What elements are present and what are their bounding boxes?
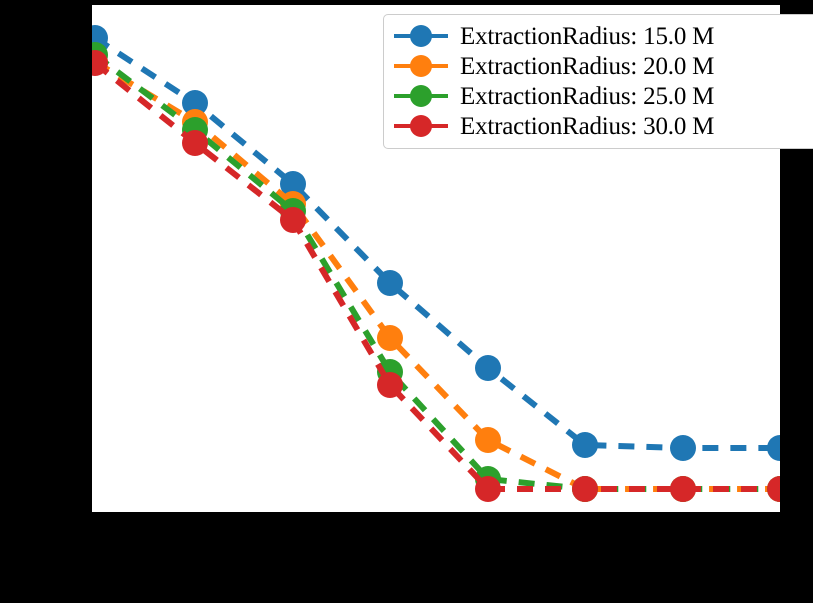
data-point-marker <box>475 427 501 453</box>
y-tick-minor <box>85 248 91 250</box>
y-tick-minor <box>85 467 91 469</box>
y-tick-minor <box>85 363 91 365</box>
y-tick-minor <box>85 4 91 6</box>
y-tick-minor <box>85 20 91 22</box>
y-tick-minor <box>85 52 91 54</box>
y-tick-minor <box>85 261 91 263</box>
data-point-marker <box>767 435 780 461</box>
y-tick-minor <box>85 161 91 163</box>
y-tick-minor <box>85 85 91 87</box>
figure-canvas: ExtractionRadius: 15.0 M ExtractionRadiu… <box>0 0 813 603</box>
y-tick-minor <box>85 335 91 337</box>
y-tick-minor <box>85 354 91 356</box>
legend-dot-2 <box>410 85 432 107</box>
y-tick-minor <box>85 242 91 244</box>
legend-label-3: ExtractionRadius: 30.0 M <box>460 114 714 139</box>
axis-spine-left <box>90 5 92 514</box>
y-tick-minor <box>85 374 91 376</box>
data-point-marker <box>377 325 403 351</box>
legend-label-2: ExtractionRadius: 25.0 M <box>460 84 714 109</box>
data-point-marker <box>572 432 598 458</box>
y-tick-minor <box>85 391 91 393</box>
x-tick-major <box>389 513 391 524</box>
y-tick-major <box>80 326 91 328</box>
y-tick-minor <box>85 282 91 284</box>
y-tick-minor <box>85 238 91 240</box>
data-point-marker <box>670 476 696 502</box>
y-tick-minor <box>85 97 91 99</box>
data-point-marker <box>475 355 501 381</box>
x-tick-major <box>487 513 489 524</box>
y-tick-major <box>80 48 91 50</box>
y-tick-minor <box>85 178 91 180</box>
y-tick-minor <box>85 423 91 425</box>
y-tick-minor <box>85 169 91 171</box>
y-tick-minor <box>85 427 91 429</box>
x-tick-major <box>194 513 196 524</box>
y-tick-minor <box>85 446 91 448</box>
y-tick-minor <box>85 330 91 332</box>
legend-entry-0: ExtractionRadius: 15.0 M <box>394 21 810 51</box>
y-tick-minor <box>85 155 91 157</box>
y-tick-minor <box>85 433 91 435</box>
y-tick-minor <box>85 145 91 147</box>
legend-entry-3: ExtractionRadius: 30.0 M <box>394 111 810 141</box>
y-tick-minor <box>85 340 91 342</box>
legend-marker-icon-3 <box>394 115 448 137</box>
legend-label-1: ExtractionRadius: 20.0 M <box>460 54 714 79</box>
data-point-marker <box>572 476 598 502</box>
y-tick-minor <box>85 205 91 207</box>
y-tick-minor <box>85 483 91 485</box>
y-tick-major <box>80 418 91 420</box>
legend-marker-icon-2 <box>394 85 448 107</box>
legend-dot-1 <box>410 55 432 77</box>
legend-dot-0 <box>410 25 432 47</box>
x-tick-major <box>584 513 586 524</box>
legend-marker-icon-1 <box>394 55 448 77</box>
y-tick-minor <box>85 69 91 71</box>
x-tick-major <box>779 513 781 524</box>
y-tick-minor <box>85 346 91 348</box>
y-tick-minor <box>85 455 91 457</box>
legend-entry-1: ExtractionRadius: 20.0 M <box>394 51 810 81</box>
y-tick-minor <box>85 150 91 152</box>
legend-entry-2: ExtractionRadius: 25.0 M <box>394 81 810 111</box>
y-tick-minor <box>85 57 91 59</box>
y-tick-minor <box>85 439 91 441</box>
legend-dot-3 <box>410 115 432 137</box>
y-tick-minor <box>85 113 91 115</box>
x-tick-major <box>682 513 684 524</box>
y-tick-minor <box>85 189 91 191</box>
data-point-marker <box>182 130 208 156</box>
y-tick-minor <box>85 254 91 256</box>
y-tick-major <box>80 233 91 235</box>
data-point-marker <box>767 476 780 502</box>
y-tick-minor <box>85 76 91 78</box>
legend-marker-icon-0 <box>394 25 448 47</box>
data-point-marker <box>475 476 501 502</box>
y-tick-minor <box>85 270 91 272</box>
y-tick-major <box>80 511 91 513</box>
data-point-marker <box>280 207 306 233</box>
legend-label-0: ExtractionRadius: 15.0 M <box>460 24 714 49</box>
y-tick-minor <box>85 298 91 300</box>
legend-box: ExtractionRadius: 15.0 M ExtractionRadiu… <box>383 14 813 149</box>
x-tick-major <box>94 513 96 524</box>
axis-spine-top <box>90 3 782 5</box>
data-point-marker <box>377 270 403 296</box>
data-point-marker <box>670 435 696 461</box>
y-tick-major <box>80 141 91 143</box>
x-tick-major <box>292 513 294 524</box>
data-point-marker <box>377 372 403 398</box>
y-tick-minor <box>85 63 91 65</box>
